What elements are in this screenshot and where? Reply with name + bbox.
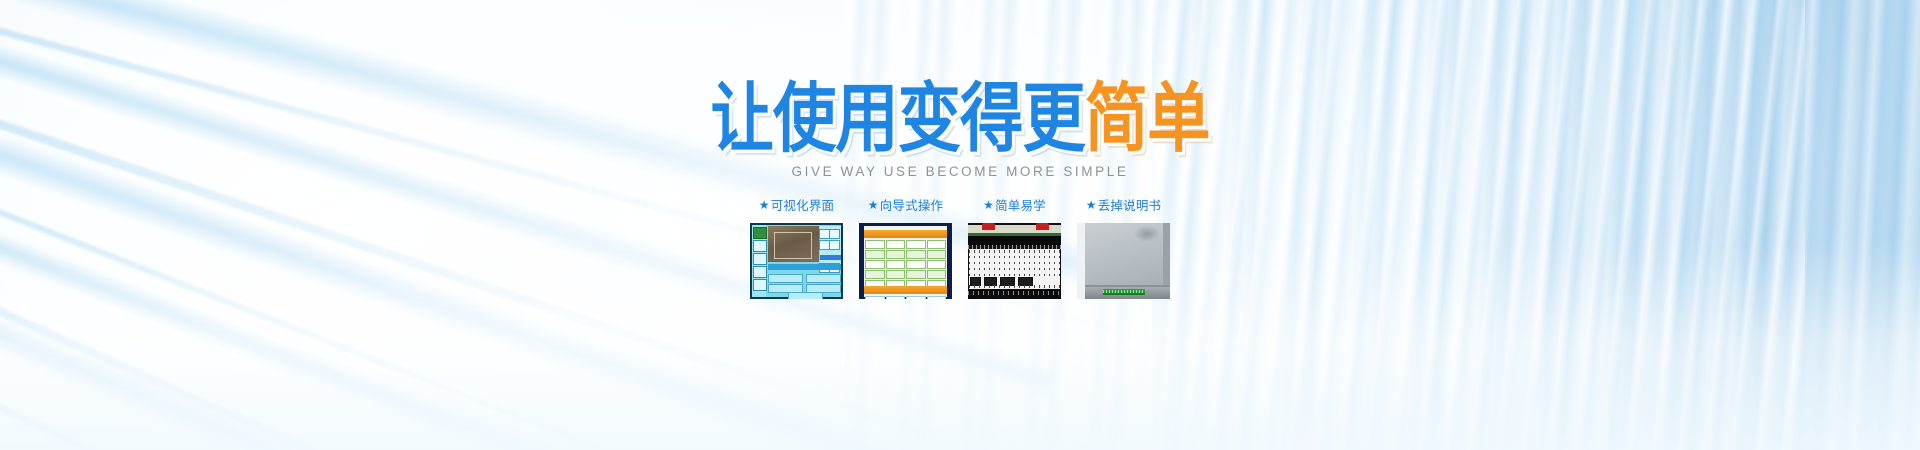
feature-label-text: 简单易学 bbox=[995, 195, 1046, 214]
star-icon: ★ bbox=[868, 199, 879, 211]
feature-label-row: ★可视化界面 ★向导式操作 ★简单易学 ★丢掉说明书 bbox=[750, 195, 1170, 214]
feature-label-text: 可视化界面 bbox=[771, 195, 835, 214]
hero-banner: 让使用变得更简单 GIVE WAY USE BECOME MORE SIMPLE… bbox=[0, 0, 1920, 450]
feature-label: ★简单易学 bbox=[983, 195, 1046, 214]
subtitle: GIVE WAY USE BECOME MORE SIMPLE bbox=[792, 164, 1129, 179]
star-icon: ★ bbox=[759, 199, 770, 211]
feature-item: ★向导式操作 bbox=[859, 195, 952, 214]
star-icon: ★ bbox=[983, 199, 994, 211]
feature-item: ★简单易学 bbox=[968, 195, 1061, 214]
feature-thumbnail-wizard-operation bbox=[859, 223, 952, 299]
feature-thumbnail-no-manual bbox=[1077, 223, 1170, 299]
banner-content: 让使用变得更简单 GIVE WAY USE BECOME MORE SIMPLE… bbox=[0, 0, 1920, 450]
feature-thumbnail-easy-to-learn bbox=[968, 223, 1061, 299]
feature-thumbnail-row bbox=[750, 223, 1170, 299]
headline: 让使用变得更简单 bbox=[711, 82, 1210, 158]
feature-thumbnail-visual-interface bbox=[750, 223, 843, 299]
star-icon: ★ bbox=[1086, 199, 1097, 211]
feature-label-text: 丢掉说明书 bbox=[1098, 195, 1162, 214]
feature-item: ★丢掉说明书 bbox=[1077, 195, 1170, 214]
headline-orange-text: 简单 bbox=[1085, 82, 1210, 158]
feature-item: ★可视化界面 bbox=[750, 195, 843, 214]
feature-label-text: 向导式操作 bbox=[880, 195, 944, 214]
headline-blue-text: 让使用变得更 bbox=[711, 82, 1085, 158]
feature-label: ★丢掉说明书 bbox=[1086, 195, 1161, 214]
feature-label: ★向导式操作 bbox=[868, 195, 943, 214]
feature-label: ★可视化界面 bbox=[759, 195, 834, 214]
